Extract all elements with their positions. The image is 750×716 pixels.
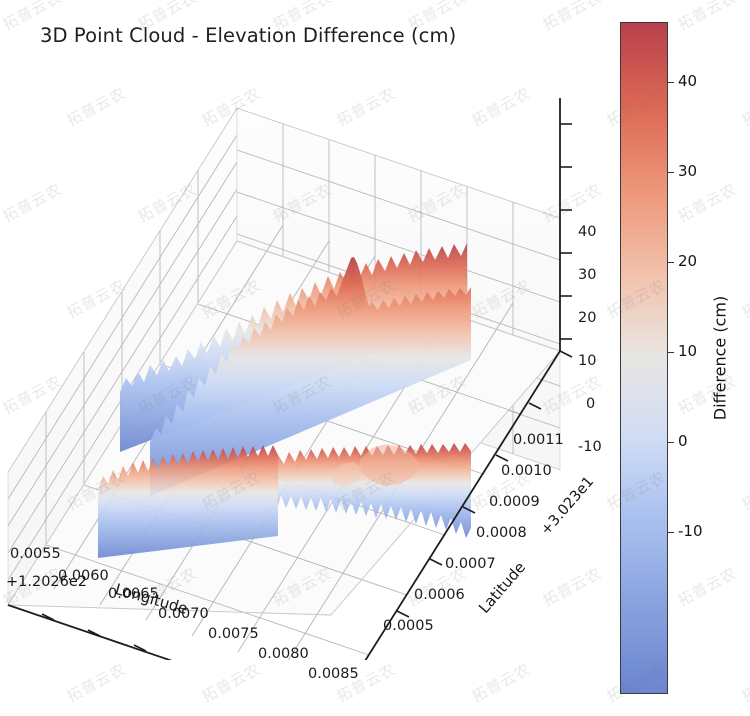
z-tick-0: 40 <box>578 224 596 240</box>
colorbar-tick-4: 0 <box>678 432 688 450</box>
y-tick-1: 0.0006 <box>414 587 465 603</box>
z-tick-2: 20 <box>578 310 596 326</box>
axes3d-container: 0.0055 0.0060 0.0065 0.0070 0.0075 0.008… <box>0 60 610 660</box>
y-tick-4: 0.0009 <box>489 494 540 510</box>
colorbar-tick-mark-4 <box>668 442 674 443</box>
watermark: 拓普云农 <box>63 658 129 707</box>
colorbar-tick-mark-5 <box>668 532 674 533</box>
colorbar-tick-mark-2 <box>668 262 674 263</box>
y-tick-6: 0.0011 <box>513 432 564 448</box>
x-axis-offset-text: +1.2026e2 <box>6 574 87 590</box>
colorbar-tick-0: 40 <box>678 72 697 90</box>
colorbar-tick-1: 30 <box>678 162 697 180</box>
z-tick-1: 30 <box>578 267 596 283</box>
x-tick-5: 0.0080 <box>258 646 309 662</box>
colorbar-label-wrap: Difference (cm) <box>700 0 740 716</box>
colorbar-gradient <box>621 23 667 693</box>
colorbar-label: Difference (cm) <box>711 296 730 420</box>
watermark: 拓普云农 <box>198 658 264 707</box>
colorbar-tick-mark-1 <box>668 172 674 173</box>
watermark: 拓普云农 <box>468 658 534 707</box>
y-tick-0: 0.0005 <box>383 618 434 634</box>
z-tick-5: -10 <box>578 439 602 455</box>
z-tick-3: 10 <box>578 353 596 369</box>
colorbar-tick-3: 10 <box>678 342 697 360</box>
colorbar-tick-mark-3 <box>668 352 674 353</box>
colorbar[interactable] <box>620 22 668 694</box>
figure-canvas: 3D Point Cloud - Elevation Difference (c… <box>0 0 750 716</box>
colorbar-tick-2: 20 <box>678 252 697 270</box>
x-tick-0: 0.0055 <box>10 546 61 562</box>
watermark: 拓普云农 <box>539 0 605 35</box>
x-tick-4: 0.0075 <box>208 626 259 642</box>
colorbar-tick-mark-0 <box>668 82 674 83</box>
page-title: 3D Point Cloud - Elevation Difference (c… <box>40 24 456 47</box>
colorbar-tick-5: -10 <box>678 522 703 540</box>
y-tick-2: 0.0007 <box>445 556 496 572</box>
z-tick-4: 0 <box>586 396 595 412</box>
y-tick-5: 0.0010 <box>501 463 552 479</box>
y-tick-3: 0.0008 <box>476 525 527 541</box>
x-tick-6: 0.0085 <box>308 666 359 682</box>
